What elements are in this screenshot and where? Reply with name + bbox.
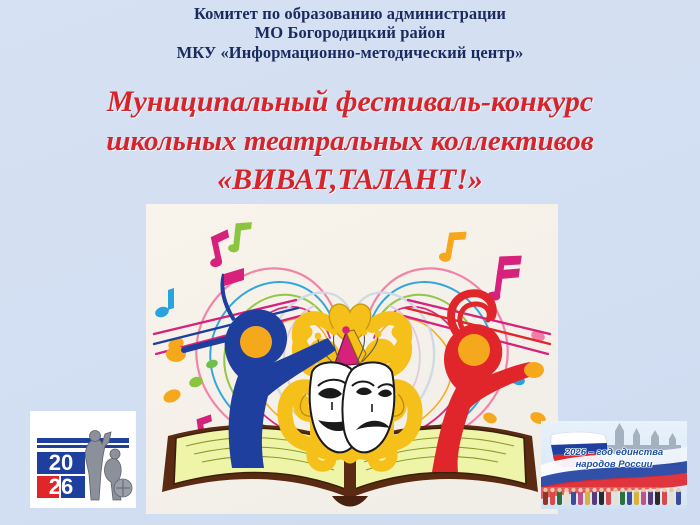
header-line-3: МКУ «Информационно-методический центр» xyxy=(0,43,700,62)
header-line-2: МО Богородицкий район xyxy=(0,23,700,42)
theatre-festival-artwork xyxy=(146,204,558,514)
organization-header: Комитет по образованию администрации МО … xyxy=(0,4,700,62)
title-line-1: Муниципальный фестиваль-конкурс xyxy=(0,82,700,122)
people-in-costumes xyxy=(541,487,687,505)
emblem-digits-top: 20 xyxy=(49,450,73,475)
festival-title: Муниципальный фестиваль-конкурс школьных… xyxy=(0,82,700,200)
year-of-unity-badge: 2026 – год единства народов России xyxy=(541,421,687,509)
artwork-svg xyxy=(146,204,558,514)
emblem-2026-svg: 20 26 xyxy=(31,412,135,507)
theatre-masks xyxy=(310,362,395,452)
header-line-1: Комитет по образованию администрации xyxy=(0,4,700,23)
title-line-3: «ВИВАТ,ТАЛАНТ!» xyxy=(0,160,700,200)
year-2026-emblem: 20 26 xyxy=(31,412,135,507)
badge-unity-svg xyxy=(541,421,687,509)
presentation-slide: Комитет по образованию администрации МО … xyxy=(0,0,700,525)
title-line-2: школьных театральных коллективов xyxy=(0,122,700,161)
emblem-digits-bottom: 26 xyxy=(49,474,73,499)
